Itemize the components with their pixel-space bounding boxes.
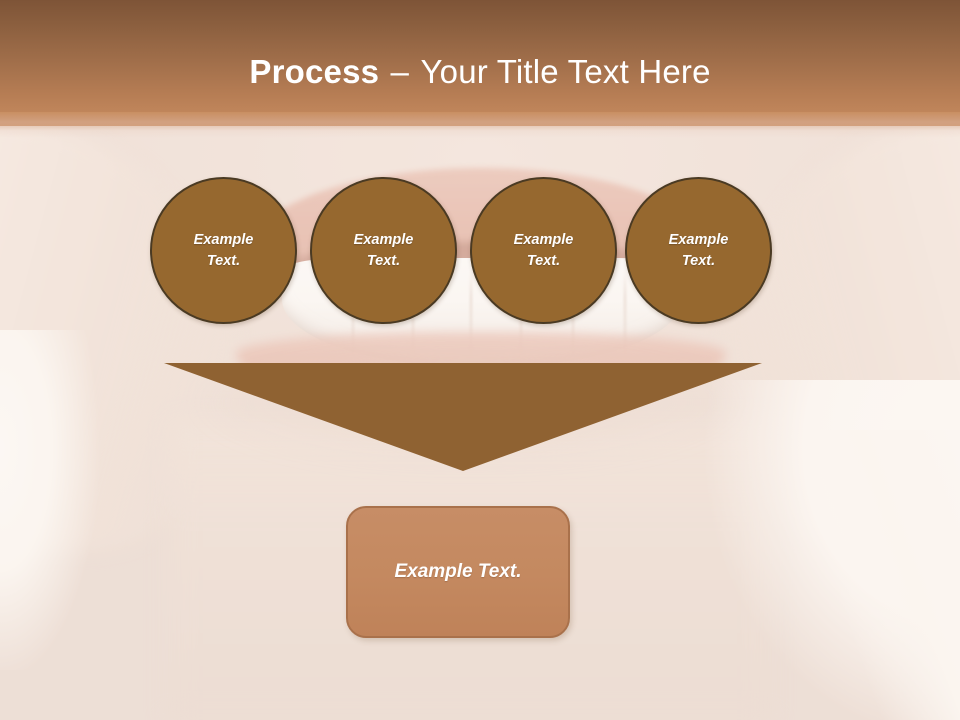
photo-backdrop-left <box>0 330 120 670</box>
process-step-label: Example Text. <box>669 230 729 272</box>
process-step-circle-1[interactable]: Example Text. <box>150 177 297 324</box>
header-fade <box>0 112 960 138</box>
result-box-label: Example Text. <box>394 560 521 584</box>
process-step-label: Example Text. <box>194 230 254 272</box>
process-step-circle-4[interactable]: Example Text. <box>625 177 772 324</box>
process-step-label: Example Text. <box>514 230 574 272</box>
page-title-bold: Process <box>249 53 379 90</box>
process-step-circle-3[interactable]: Example Text. <box>470 177 617 324</box>
page-title: Process – Your Title Text Here <box>0 52 960 92</box>
process-step-circle-2[interactable]: Example Text. <box>310 177 457 324</box>
slide-canvas: Process – Your Title Text Here Example T… <box>0 0 960 720</box>
page-title-dash: – <box>379 53 420 90</box>
process-step-label: Example Text. <box>354 230 414 272</box>
arrow-down-icon <box>164 363 762 471</box>
photo-backdrop-right-edge <box>810 430 960 720</box>
process-step-row: Example Text. Example Text. Example Text… <box>150 177 780 327</box>
result-box[interactable]: Example Text. <box>346 506 570 638</box>
page-title-rest: Your Title Text Here <box>420 53 710 90</box>
